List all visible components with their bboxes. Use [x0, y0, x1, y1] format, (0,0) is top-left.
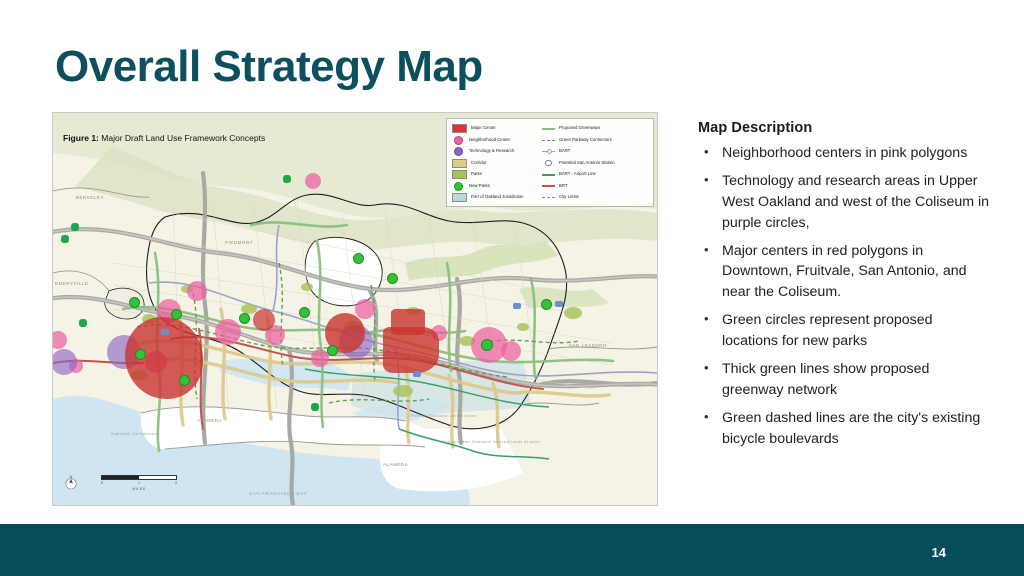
scale-unit-label: MILES [101, 487, 177, 491]
legend-item-city-limits[interactable]: City Limits [542, 193, 648, 202]
new-park-circle [541, 299, 552, 310]
legend-swatch-new-parks-icon [452, 183, 465, 190]
legend-swatch-green-parkway-connectors-icon [542, 137, 555, 144]
legend-item-green-parkway-connectors[interactable]: Green Parkway Connectors [542, 136, 648, 145]
legend-swatch-proposed-greenways-icon [542, 125, 555, 132]
legend-item-neighborhood-center[interactable]: Neighborhood Center [452, 136, 538, 145]
map-note-port-of-oakland-jurisdiction: Port of Oakland Jurisdiction [411, 413, 461, 418]
map-label-emeryville: EMERYVILLE [55, 281, 89, 286]
legend-label: New Parks [469, 184, 490, 188]
list-item: Major centers in red polygons in Downtow… [698, 241, 990, 304]
legend-swatch-parks-icon [452, 171, 467, 178]
legend-item-corridor[interactable]: Corridor [452, 159, 538, 168]
legend-label: Potential San Antonio Station [559, 161, 615, 165]
map-legend[interactable]: Major Center Neighborhood Center Technol… [446, 118, 654, 207]
bart-station-marker [413, 371, 421, 377]
legend-swatch-neighborhood-center-icon [452, 137, 465, 144]
bart-station-marker [161, 329, 169, 335]
neighborhood-center [187, 281, 207, 301]
legend-item-port-of-oakland-jurisdiction[interactable]: Port of Oakland Jurisdiction [452, 193, 538, 202]
new-park-circle [353, 253, 364, 264]
legend-label: Major Center [471, 126, 496, 130]
map-description-panel: Map Description Neighborhood centers in … [698, 120, 990, 456]
list-item: Technology and research areas in Upper W… [698, 171, 990, 234]
list-item: Green dashed lines are the city's existi… [698, 408, 990, 450]
slide-footer: 14 [0, 524, 1024, 576]
bart-station-marker [555, 301, 563, 307]
park-marker [311, 403, 319, 411]
legend-item-major-center[interactable]: Major Center [452, 124, 538, 133]
legend-swatch-bart-airport-line-icon [542, 171, 555, 178]
legend-label: BRT [559, 184, 568, 188]
park-marker [71, 223, 79, 231]
legend-swatch-potential-station-icon [542, 160, 555, 167]
list-item: Neighborhood centers in pink polygons [698, 143, 990, 164]
list-item: Thick green lines show proposed greenway… [698, 359, 990, 401]
legend-label: Green Parkway Connectors [559, 138, 612, 142]
legend-swatch-port-jurisdiction-icon [452, 194, 467, 201]
figure-caption-text: Major Draft Land Use Framework Concepts [101, 133, 265, 143]
slide-root: Overall Strategy Map [0, 0, 1024, 576]
map-label-alameda: ALAMEDA [197, 418, 222, 423]
map-scale-bar: 0 1 2 MILES [101, 475, 177, 491]
major-center-san-antonio [253, 309, 275, 331]
legend-label: Corridor [471, 161, 487, 165]
legend-swatch-brt-icon [542, 183, 555, 190]
legend-item-bart[interactable]: BART [542, 147, 648, 156]
new-park-circle [387, 273, 398, 284]
page-title: Overall Strategy Map [55, 44, 483, 90]
legend-item-new-parks[interactable]: New Parks [452, 182, 538, 191]
legend-swatch-city-limits-icon [542, 194, 555, 201]
legend-label: Port of Oakland Jurisdiction [471, 195, 524, 199]
legend-item-potential-san-antonio-station[interactable]: Potential San Antonio Station [542, 159, 648, 168]
map-figure[interactable]: BERKELEY PIEDMONT EMERYVILLE ALAMEDA ALA… [52, 112, 658, 506]
list-item: Green circles represent proposed locatio… [698, 310, 990, 352]
legend-column-left: Major Center Neighborhood Center Technol… [452, 124, 538, 202]
technology-research [52, 349, 77, 375]
map-label-piedmont: PIEDMONT [225, 240, 253, 245]
legend-label: Proposed Greenways [559, 126, 600, 130]
map-description-heading: Map Description [698, 120, 990, 136]
new-park-circle [327, 345, 338, 356]
legend-label: Parks [471, 172, 482, 176]
neighborhood-center [305, 173, 321, 189]
scale-tick-1: 1 [138, 481, 140, 485]
new-park-circle [135, 349, 146, 360]
legend-label: Neighborhood Center [469, 138, 510, 142]
park-marker [283, 175, 291, 183]
legend-item-parks[interactable]: Parks [452, 170, 538, 179]
neighborhood-center [501, 341, 521, 361]
legend-label: BART [559, 149, 570, 153]
scale-tick-0: 0 [101, 481, 103, 485]
map-label-berkeley: BERKELEY [76, 195, 104, 200]
page-number: 14 [932, 545, 946, 560]
map-note-oakland-jurisdiction: Oakland Jurisdiction [111, 431, 157, 436]
legend-item-brt[interactable]: BRT [542, 182, 648, 191]
figure-caption-prefix: Figure 1: [63, 133, 99, 143]
new-park-circle [239, 313, 250, 324]
map-label-alameda-island: ALAMEDA [383, 462, 408, 467]
figure-caption: Figure 1: Major Draft Land Use Framework… [63, 133, 265, 143]
new-park-circle [171, 309, 182, 320]
map-label-san-francisco-bay: SAN FRANCISCO BAY [249, 491, 307, 496]
new-park-circle [481, 339, 493, 351]
legend-column-right: Proposed Greenways Green Parkway Connect… [542, 124, 648, 202]
park-marker [79, 319, 87, 327]
legend-swatch-major-center-icon [452, 125, 467, 132]
neighborhood-center [215, 319, 241, 345]
legend-swatch-technology-research-icon [452, 148, 465, 155]
legend-item-proposed-greenways[interactable]: Proposed Greenways [542, 124, 648, 133]
new-park-circle [129, 297, 140, 308]
map-note-oakland-airport: Metropolitan Oakland International Airpo… [441, 439, 489, 444]
bart-station-marker [513, 303, 521, 309]
legend-item-bart-airport-line[interactable]: BART - Airport Line [542, 170, 648, 179]
park-marker [61, 235, 69, 243]
legend-swatch-corridor-icon [452, 160, 467, 167]
major-center-coliseum-north [391, 309, 425, 335]
new-park-circle [299, 307, 310, 318]
legend-item-technology-research[interactable]: Technology & Research [452, 147, 538, 156]
new-park-circle [179, 375, 190, 386]
scale-tick-2: 2 [175, 481, 177, 485]
compass-rose-icon: N [63, 475, 79, 491]
legend-label: Technology & Research [469, 149, 514, 153]
legend-label: City Limits [559, 195, 579, 199]
map-label-san-leandro: SAN LEANDRO [569, 343, 607, 348]
neighborhood-center [355, 299, 375, 319]
legend-label: BART - Airport Line [559, 172, 596, 176]
map-description-list: Neighborhood centers in pink polygons Te… [698, 143, 990, 449]
legend-swatch-bart-icon [542, 148, 555, 155]
